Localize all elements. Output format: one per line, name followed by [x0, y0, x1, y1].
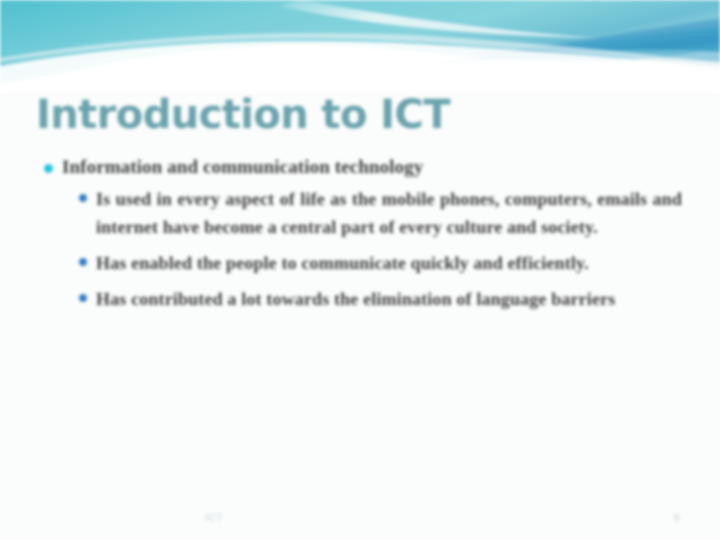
banner-wave-graphic: [0, 0, 720, 92]
bullet-marker-icon: [44, 164, 53, 173]
sub-bullet-marker-icon: [79, 258, 87, 266]
bullet-level1: Information and communication technology: [36, 155, 682, 181]
footer-mark: ICT: [205, 513, 223, 524]
slide-title: Introduction to ICT: [36, 92, 656, 139]
bullet-sublist: Is used in every aspect of life as the m…: [36, 185, 682, 313]
bullet-text: Has enabled the people to communicate qu…: [96, 249, 682, 277]
bullet-level2: Is used in every aspect of life as the m…: [70, 185, 682, 241]
sub-bullet-marker-icon: [79, 194, 87, 202]
bullet-text: Information and communication technology: [62, 157, 423, 178]
teal-wave-banner: [0, 0, 720, 92]
bullet-level2: Has enabled the people to communicate qu…: [70, 249, 682, 277]
sub-bullet-marker-icon: [79, 294, 87, 302]
presentation-slide: Introduction to ICT Information and comm…: [0, 0, 720, 540]
bullet-level2: Has contributed a lot towards the elimin…: [70, 285, 682, 313]
page-number: 6: [674, 513, 680, 524]
bullet-text: Is used in every aspect of life as the m…: [96, 185, 682, 241]
bullet-text: Has contributed a lot towards the elimin…: [96, 285, 682, 313]
slide-body: Information and communication technology…: [36, 155, 682, 321]
